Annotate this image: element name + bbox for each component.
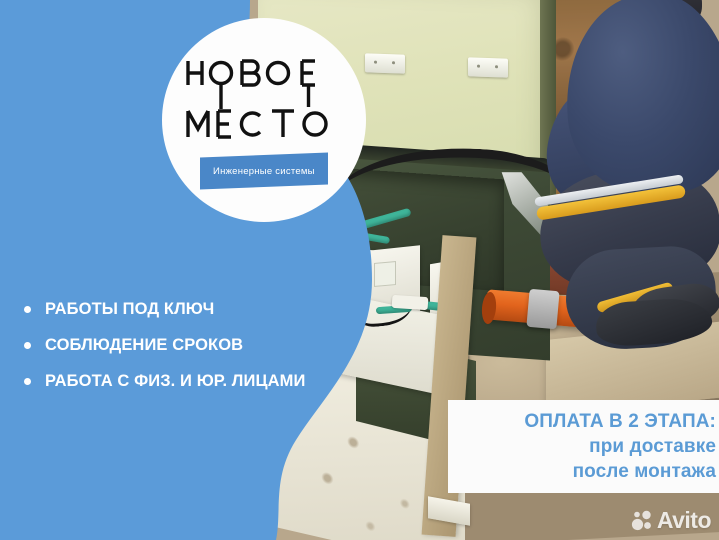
bullet-dot-icon [24,306,31,313]
list-item: РАБОТА С ФИЗ. И ЮР. ЛИЦАМИ [24,372,384,391]
payment-stage-two: после монтажа [462,459,716,484]
payment-info-box: ОПЛАТА В 2 ЭТАПА: при доставке после мон… [448,400,719,493]
feature-text: СОБЛЮДЕНИЕ СРОКОВ [45,336,243,355]
avito-wordmark: Avito [657,509,711,532]
pipe-collar [526,289,559,329]
payment-heading: ОПЛАТА В 2 ЭТАПА: [462,409,716,434]
list-item: РАБОТЫ ПОД КЛЮЧ [24,300,384,319]
logo-tagline-text: Инженерные системы [213,166,315,177]
features-list: РАБОТЫ ПОД КЛЮЧ СОБЛЮДЕНИЕ СРОКОВ РАБОТА… [24,300,384,408]
feature-text: РАБОТА С ФИЗ. И ЮР. ЛИЦАМИ [45,372,305,391]
logo-wordmark [184,53,344,145]
logo-circle: Инженерные системы [162,18,366,222]
feature-text: РАБОТЫ ПОД КЛЮЧ [45,300,214,319]
bullet-dot-icon [24,378,31,385]
avito-circles-icon [631,510,653,532]
logo-tagline-bar: Инженерные системы [200,153,328,190]
novoe-mesto-logo-icon [184,53,344,145]
list-item: СОБЛЮДЕНИЕ СРОКОВ [24,336,384,355]
mounting-bracket [468,57,508,77]
payment-stage-one: при доставке [462,434,716,459]
avito-watermark: Avito [631,509,711,532]
advertisement-banner: Инженерные системы РАБОТЫ ПОД КЛЮЧ СОБЛЮ… [0,0,719,540]
bullet-dot-icon [24,342,31,349]
